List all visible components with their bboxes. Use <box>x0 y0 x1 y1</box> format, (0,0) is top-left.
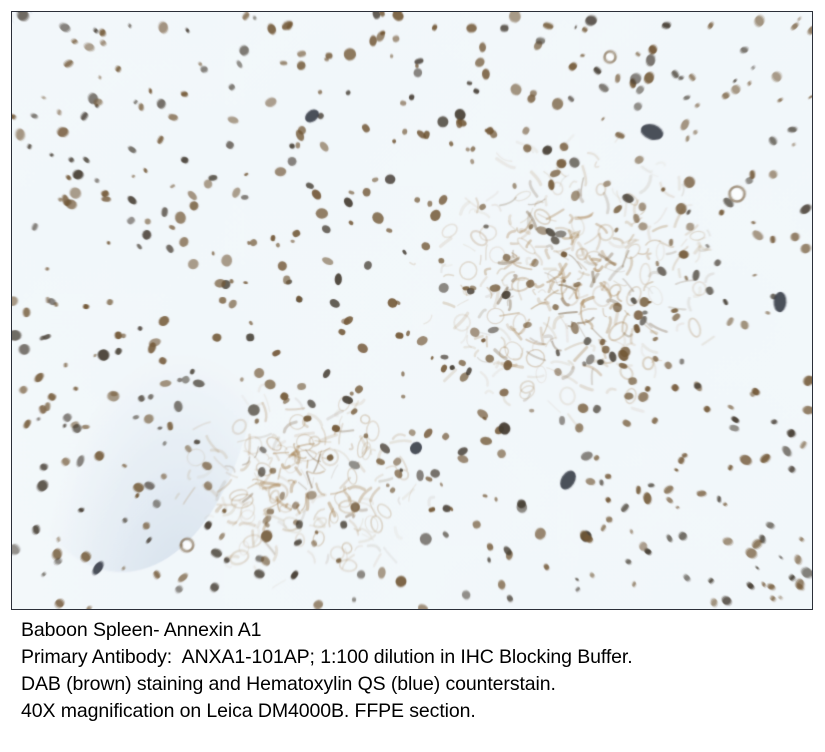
page-root: Baboon Spleen- Annexin A1 Primary Antibo… <box>0 0 825 752</box>
micrograph-canvas <box>12 12 812 609</box>
caption-line-primary-antibody: Primary Antibody: ANXA1-101AP; 1:100 dil… <box>21 644 821 671</box>
caption-line-stains: DAB (brown) staining and Hematoxylin QS … <box>21 671 821 698</box>
ihc-micrograph <box>11 11 813 610</box>
caption-block: Baboon Spleen- Annexin A1 Primary Antibo… <box>21 617 821 725</box>
caption-line-magnification: 40X magnification on Leica DM4000B. FFPE… <box>21 698 821 725</box>
caption-line-tissue-target: Baboon Spleen- Annexin A1 <box>21 617 821 644</box>
